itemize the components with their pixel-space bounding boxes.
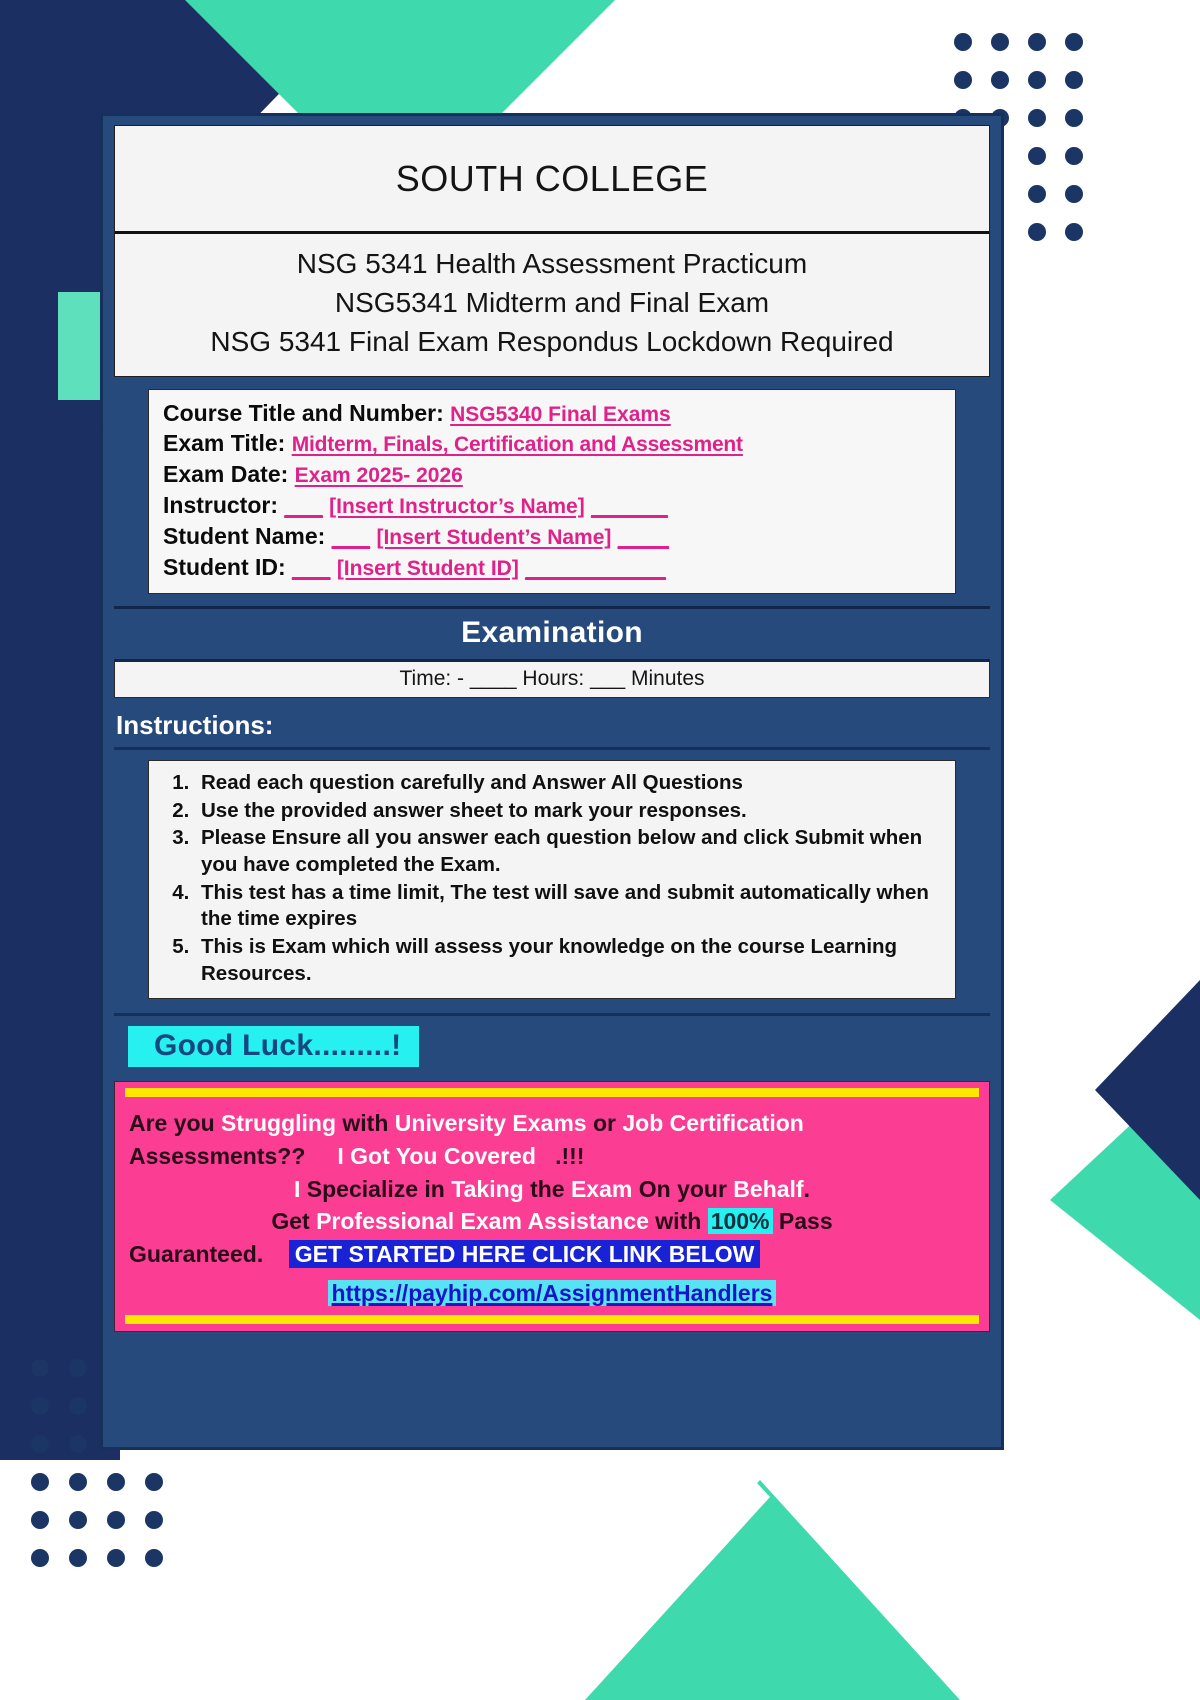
promo-l3-p6: Exam [571,1176,632,1202]
detail-value-exam-title[interactable]: Midterm, Finals, Certification and Asses… [292,433,743,456]
instruction-item: This test has a time limit, The test wil… [195,880,935,933]
promo-link-line: https://payhip.com/AssignmentHandlers [129,1271,975,1310]
exam-time-line: Time: - ____ Hours: ___ Minutes [114,662,990,698]
examination-heading: Examination [114,606,990,662]
promo-advertisement: Are you Struggling with University Exams… [114,1081,990,1332]
course-header: NSG 5341 Health Assessment Practicum NSG… [115,234,989,376]
promo-line-3: I Specialize in Taking the Exam On your … [129,1173,975,1206]
promo-l3-p9: . [804,1176,810,1202]
promo-body: Are you Struggling with University Exams… [115,1097,989,1313]
promo-line-4: Get Professional Exam Assistance with 10… [129,1205,975,1238]
instruction-item: Read each question carefully and Answer … [195,770,935,797]
course-header-line-2: NSG5341 Midterm and Final Exam [121,283,983,322]
detail-lead-student-id: ___ [292,554,330,580]
promo-l4-p1: Get [271,1208,316,1234]
detail-trail-instructor: ______ [591,492,668,518]
promo-l3-p2: Specialize [307,1176,418,1202]
promo-l1-p2: Struggling [221,1110,336,1136]
detail-trail-student-name: ____ [618,523,669,549]
instructions-box: Read each question carefully and Answer … [148,760,956,999]
detail-label-course: Course Title and Number: [163,400,444,426]
detail-value-student-id[interactable]: [Insert Student ID] [337,557,519,580]
instructions-heading: Instructions: [114,698,990,750]
promo-l3-p4: Taking [451,1176,523,1202]
promo-l3-p8: Behalf [733,1176,803,1202]
course-header-line-1: NSG 5341 Health Assessment Practicum [121,244,983,283]
promo-l3-p3: in [418,1176,451,1202]
detail-row-student-id: Student ID: ___ [Insert Student ID] ____… [163,552,955,583]
promo-l2-p2: I Got You Covered [337,1143,536,1169]
exam-document-card: SOUTH COLLEGE NSG 5341 Health Assessment… [100,113,1004,1450]
detail-trail-student-id: ___________ [525,554,666,580]
detail-row-exam-date: Exam Date: Exam 2025- 2026 [163,459,955,490]
detail-label-student-id: Student ID: [163,554,286,580]
detail-row-student-name: Student Name: ___ [Insert Student’s Name… [163,521,955,552]
detail-row-exam-title: Exam Title: Midterm, Finals, Certificati… [163,428,955,459]
promo-l1-p4: University Exams [395,1110,587,1136]
promo-line-2: Assessments?? I Got You Covered .!!! [129,1140,975,1173]
detail-value-student-name[interactable]: [Insert Student’s Name] [376,526,611,549]
promo-top-rule [125,1088,979,1097]
instruction-item: Please Ensure all you answer each questi… [195,825,935,878]
examination-section: Examination Time: - ____ Hours: ___ Minu… [114,606,990,698]
promo-line-5: Guaranteed. GET STARTED HERE CLICK LINK … [129,1238,975,1271]
promo-cta-button[interactable]: GET STARTED HERE CLICK LINK BELOW [289,1240,761,1268]
promo-pass-rate-highlight: 100% [708,1208,773,1234]
instruction-item: Use the provided answer sheet to mark yo… [195,798,935,825]
instruction-item: This is Exam which will assess your know… [195,934,935,987]
detail-row-course: Course Title and Number: NSG5340 Final E… [163,398,955,429]
promo-l2-p3: .!!! [555,1143,584,1169]
promo-l3-p7: On your [632,1176,733,1202]
detail-label-instructor: Instructor: [163,492,278,518]
promo-l3-p1: I [294,1176,307,1202]
promo-l5-p1: Guaranteed [129,1241,257,1267]
exam-details-block: Course Title and Number: NSG5340 Final E… [148,389,956,595]
detail-value-course[interactable]: NSG5340 Final Exams [450,403,671,426]
good-luck-banner: Good Luck.........! [128,1026,419,1067]
promo-url-link[interactable]: https://payhip.com/AssignmentHandlers [328,1280,777,1306]
promo-line-1: Are you Struggling with University Exams… [129,1107,975,1140]
detail-label-exam-date: Exam Date: [163,461,288,487]
promo-l1-p3: with [336,1110,395,1136]
detail-label-exam-title: Exam Title: [163,430,285,456]
instructions-list: Read each question carefully and Answer … [149,770,945,987]
promo-l1-p1: Are you [129,1110,221,1136]
college-title-panel: SOUTH COLLEGE NSG 5341 Health Assessment… [114,125,990,377]
promo-l1-p6: Job Certification [622,1110,803,1136]
detail-lead-student-name: ___ [332,523,370,549]
detail-row-instructor: Instructor: ___ [Insert Instructor’s Nam… [163,490,955,521]
promo-l4-p2: Professional [316,1208,454,1234]
promo-l3-p5: the [524,1176,571,1202]
promo-l4-p5: with [649,1208,708,1234]
promo-l4-p7: Pass [773,1208,833,1234]
good-luck-row: Good Luck.........! [114,1016,990,1075]
page-canvas: SOUTH COLLEGE NSG 5341 Health Assessment… [0,0,1200,1700]
detail-label-student-name: Student Name: [163,523,325,549]
course-header-line-3: NSG 5341 Final Exam Respondus Lockdown R… [121,322,983,361]
promo-l2-p1: Assessments?? [129,1143,305,1169]
detail-value-exam-date[interactable]: Exam 2025- 2026 [295,464,463,487]
promo-l4-p4: Exam Assistance [461,1208,649,1234]
college-name: SOUTH COLLEGE [115,126,989,234]
detail-lead-instructor: ___ [284,492,322,518]
detail-value-instructor[interactable]: [Insert Instructor’s Name] [329,495,585,518]
promo-l5-p2: . [257,1241,263,1267]
promo-bottom-rule [125,1315,979,1324]
promo-l1-p5: or [587,1110,623,1136]
